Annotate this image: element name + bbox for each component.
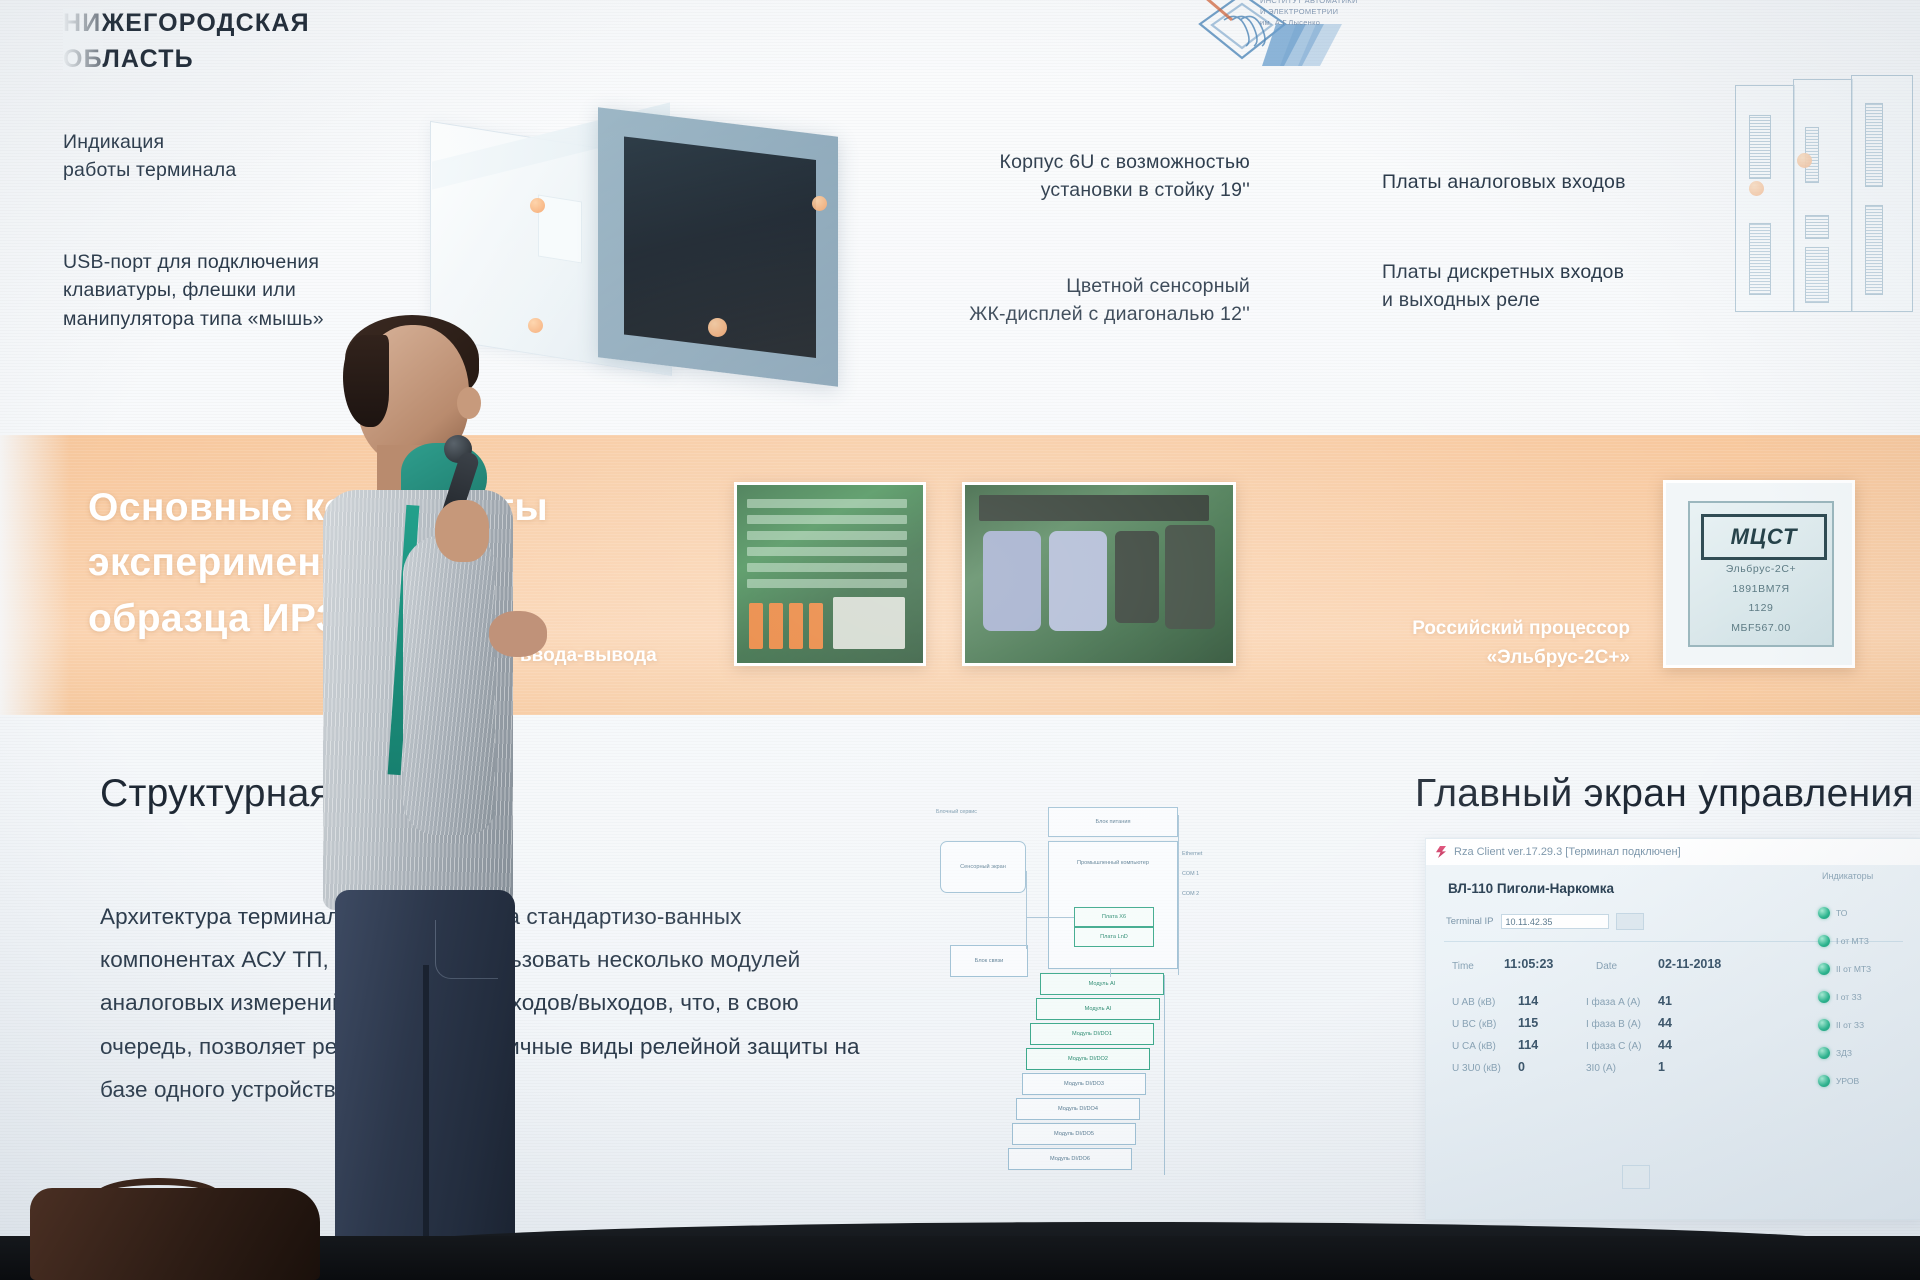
callout-case: Корпус 6U с возможностью установки в сто…: [880, 148, 1250, 205]
current-value: 44: [1658, 1016, 1672, 1030]
diagram-side-label: COM 1: [1182, 871, 1199, 877]
led-icon: [1818, 907, 1830, 919]
processor-caption: Российский процессор «Эльбрус-2С+»: [1340, 615, 1630, 672]
measurement-label: U CA (кВ): [1452, 1041, 1496, 1052]
diagram-module: Модуль DI/DO3: [1022, 1073, 1146, 1095]
hotspot-dot: [1797, 153, 1812, 168]
presenter: [305, 325, 625, 1255]
boards-technical-drawing: [1735, 75, 1920, 320]
indicator-row: I от МТЗ: [1818, 935, 1869, 947]
elbrus-chip-photo: МЦСТ Эльбрус-2С+ 1891ВМ7Я 1129 МБF567.00: [1663, 480, 1855, 668]
indicator-label: I от МТЗ: [1836, 936, 1869, 946]
chip-line-4: МБF567.00: [1690, 622, 1832, 634]
io-board-photo: [734, 482, 926, 666]
indicator-label: II от ЗЗ: [1836, 1020, 1864, 1030]
app-object-name: ВЛ-110 Пиголи-Наркомка: [1448, 881, 1614, 896]
indicator-row: I от ЗЗ: [1818, 991, 1862, 1003]
indicator-label: II от МТЗ: [1836, 964, 1871, 974]
measurement-label: U AB (кВ): [1452, 997, 1495, 1008]
diagram-module: Модуль DI/DO2: [1026, 1048, 1150, 1070]
diagram-module: Модуль DI/DO6: [1008, 1148, 1132, 1170]
diagram-module: Модуль AI: [1036, 998, 1160, 1020]
diagram-module: Модуль AI: [1040, 973, 1164, 995]
indicators-title: Индикаторы: [1822, 871, 1873, 881]
diagram-block-board-x6: Плата X6: [1074, 907, 1154, 927]
hotspot-dot: [812, 196, 827, 211]
diagram-block-touchscreen: Сенсорный экран: [940, 841, 1026, 893]
led-icon: [1818, 991, 1830, 1003]
diagram-label-service: Блочный сервис: [936, 809, 977, 815]
measurement-value: 0: [1518, 1060, 1525, 1074]
hotspot-dot: [1749, 181, 1764, 196]
mcst-logo: МЦСТ: [1701, 514, 1826, 560]
diagram-block-power: Блок питания: [1048, 807, 1178, 837]
indicator-label: УРОВ: [1836, 1076, 1859, 1086]
callout-indication: Индикация работы терминала: [63, 128, 393, 185]
indicator-label: ЗДЗ: [1836, 1048, 1852, 1058]
indicator-row: ЗДЗ: [1818, 1047, 1852, 1059]
measurement-value: 115: [1518, 1016, 1538, 1030]
ip-row: Terminal IP 10.11.42.35: [1446, 913, 1644, 930]
callout-analog-boards: Платы аналоговых входов: [1382, 168, 1712, 196]
callout-usb: USB-порт для подключения клавиатуры, фле…: [63, 248, 393, 333]
heading-main-screen: Главный экран управления: [1415, 772, 1920, 816]
indicator-row: II от ЗЗ: [1818, 1019, 1864, 1031]
indicator-row: УРОВ: [1818, 1075, 1859, 1087]
structure-diagram: Блочный сервис Блок питания Сенсорный эк…: [930, 805, 1240, 1190]
relay-assembly-photo: [962, 482, 1236, 666]
indicator-label: ТО: [1836, 908, 1847, 918]
diagram-block-computer: Промышленный компьютер: [1048, 841, 1178, 969]
app-screenshot: Rza Client ver.17.29.3 [Терминал подключ…: [1425, 838, 1920, 1220]
diagram-module: Модуль DI/DO4: [1016, 1098, 1140, 1120]
current-value: 1: [1658, 1060, 1665, 1074]
led-icon: [1818, 963, 1830, 975]
current-label: I фаза C (A): [1586, 1041, 1642, 1052]
app-titlebar: Rza Client ver.17.29.3 [Терминал подключ…: [1426, 839, 1920, 865]
diagram-module: Модуль DI/DO5: [1012, 1123, 1136, 1145]
ip-label: Terminal IP: [1446, 916, 1494, 927]
chip-line-1: Эльбрус-2С+: [1690, 563, 1832, 575]
app-body: ВЛ-110 Пиголи-Наркомка Terminal IP 10.11…: [1426, 865, 1920, 1219]
diagram-module: Модуль DI/DO1: [1030, 1023, 1154, 1045]
chip-line-2: 1891ВМ7Я: [1690, 583, 1832, 595]
current-value: 41: [1658, 994, 1672, 1008]
band-glare: [0, 435, 70, 715]
hotspot-dot: [530, 198, 545, 213]
indicator-row: II от МТЗ: [1818, 963, 1871, 975]
app-titlebar-text: Rza Client ver.17.29.3 [Терминал подключ…: [1454, 846, 1681, 858]
time-value: 11:05:23: [1504, 957, 1553, 971]
bag: [30, 1188, 320, 1280]
measurement-value: 114: [1518, 1038, 1538, 1052]
measurement-label: U 3U0 (кВ): [1452, 1063, 1501, 1074]
diagram-block-comm: Блок связи: [950, 945, 1028, 977]
callout-discrete-boards: Платы дискретных входов и выходных реле: [1382, 258, 1712, 315]
measurement-label: U BC (кВ): [1452, 1019, 1496, 1030]
led-icon: [1818, 1075, 1830, 1087]
ip-input[interactable]: 10.11.42.35: [1501, 914, 1609, 929]
led-icon: [1818, 1047, 1830, 1059]
callout-display: Цветной сенсорный ЖК-дисплей с диагональ…: [880, 272, 1250, 329]
current-value: 44: [1658, 1038, 1672, 1052]
indicator-label: I от ЗЗ: [1836, 992, 1862, 1002]
app-icon: [1436, 846, 1446, 858]
date-value: 02-11-2018: [1658, 957, 1721, 971]
chip-line-3: 1129: [1690, 602, 1832, 614]
indicator-row: ТО: [1818, 907, 1847, 919]
presentation-photo: НИЖЕГОРОДСКАЯ ОБЛАСТЬ ИНСТИТУТ АВТОМАТИК…: [0, 0, 1920, 1280]
app-toolbar-button[interactable]: [1622, 1165, 1650, 1189]
diagram-side-label: COM 2: [1182, 891, 1199, 897]
time-label: Time: [1452, 961, 1474, 972]
diagram-block-board-lnd: Плата LnD: [1074, 927, 1154, 947]
page-title: НИЖЕГОРОДСКАЯ ОБЛАСТЬ: [63, 6, 493, 77]
current-label: I фаза A (A): [1586, 997, 1640, 1008]
title-glare: [63, 8, 103, 70]
logo-caption: ИНСТИТУТ АВТОМАТИКИ И ЭЛЕКТРОМЕТРИИ им. …: [1260, 0, 1430, 29]
current-label: 3I0 (A): [1586, 1063, 1616, 1074]
hotspot-dot: [708, 318, 727, 337]
led-icon: [1818, 1019, 1830, 1031]
measurement-value: 114: [1518, 994, 1538, 1008]
date-label: Date: [1596, 961, 1617, 972]
current-label: I фаза B (A): [1586, 1019, 1641, 1030]
diagram-side-label: Ethernet: [1182, 851, 1202, 857]
ip-connect-button[interactable]: [1616, 913, 1644, 930]
led-icon: [1818, 935, 1830, 947]
